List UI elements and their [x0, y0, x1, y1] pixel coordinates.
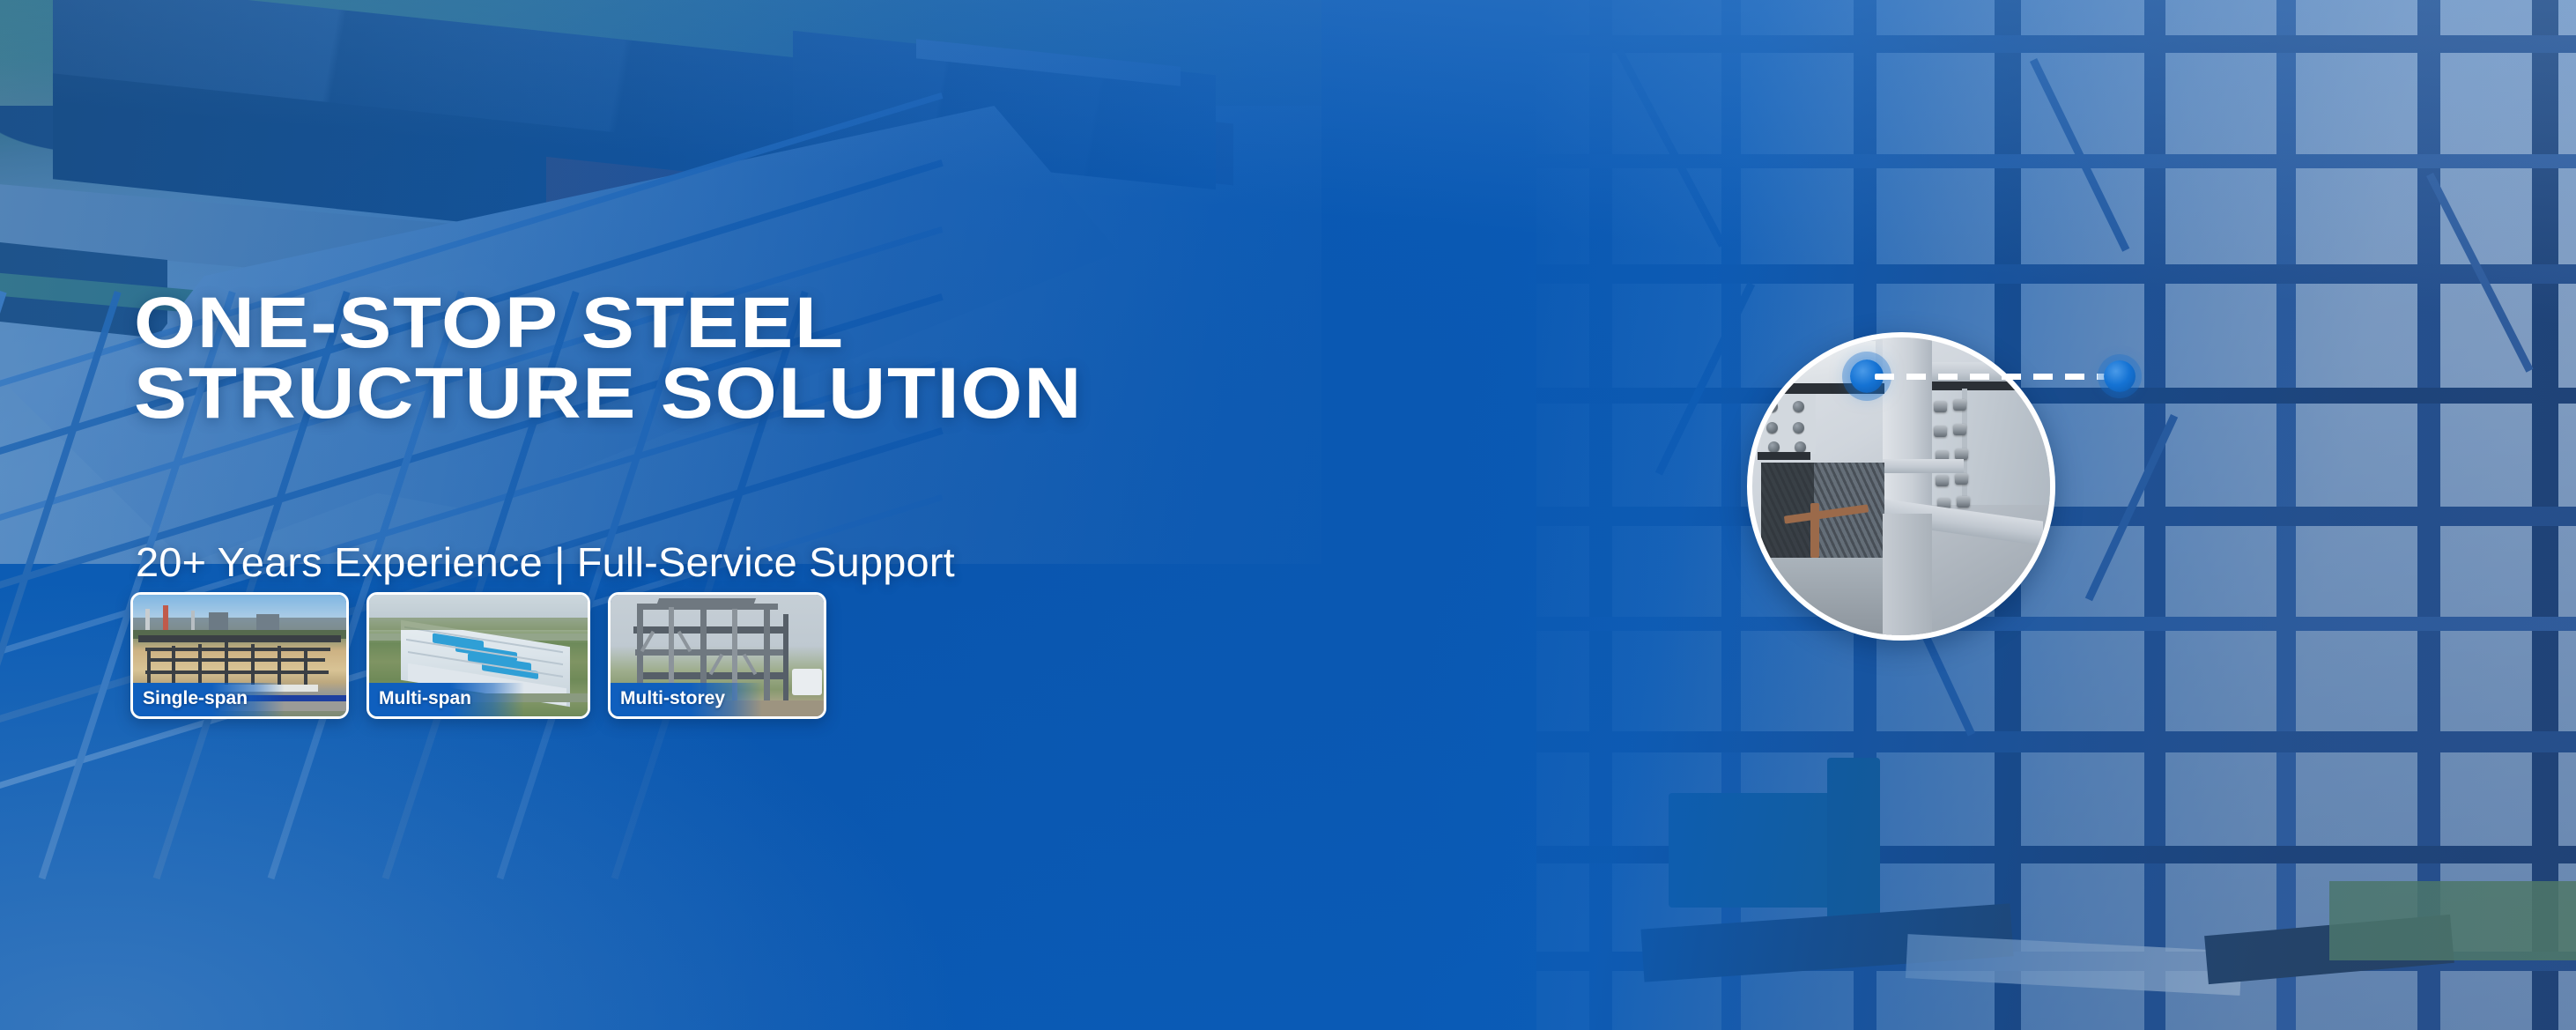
category-card-list: Single-span	[130, 592, 826, 719]
detail-target-dot	[2104, 360, 2136, 392]
card-label-single-span: Single-span	[133, 683, 285, 716]
banner-content: ONE-STOP STEEL STRUCTURE SOLUTION 20+ Ye…	[0, 0, 2576, 1030]
card-label-multi-storey: Multi-storey	[611, 683, 762, 716]
banner-headline: ONE-STOP STEEL STRUCTURE SOLUTION	[134, 288, 1083, 430]
category-card-multi-span[interactable]: Multi-span	[366, 592, 590, 719]
category-card-multi-storey[interactable]: Multi-storey	[608, 592, 826, 719]
card-label-multi-span: Multi-span	[369, 683, 524, 716]
banner-subheadline: 20+ Years Experience | Full-Service Supp…	[136, 538, 955, 586]
category-card-single-span[interactable]: Single-span	[130, 592, 349, 719]
hero-banner: ONE-STOP STEEL STRUCTURE SOLUTION 20+ Ye…	[0, 0, 2576, 1030]
detail-leader-line	[1875, 374, 2114, 380]
